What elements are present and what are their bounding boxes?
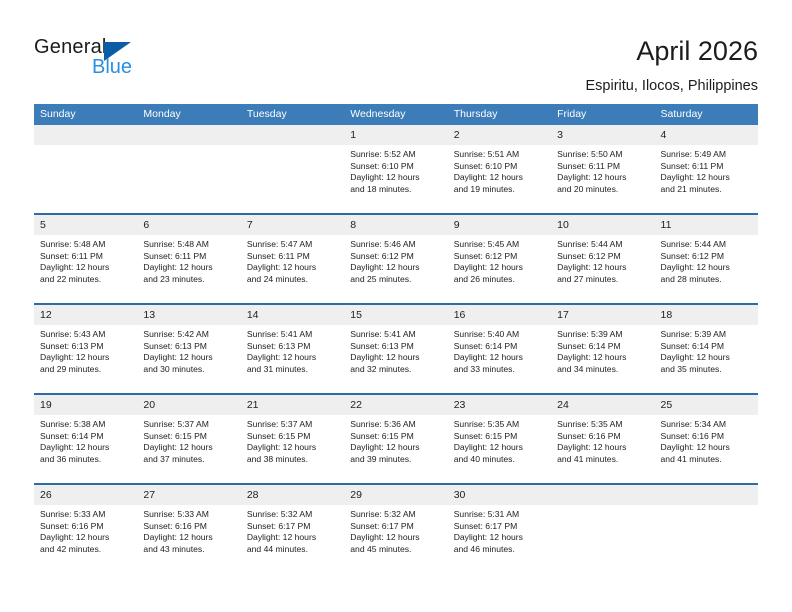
- sunset-text: Sunset: 6:16 PM: [557, 431, 648, 443]
- day-details: Sunrise: 5:39 AM Sunset: 6:14 PM Dayligh…: [655, 325, 758, 375]
- daylight-text-line1: Daylight: 12 hours: [557, 442, 648, 454]
- calendar-grid: Sunday Monday Tuesday Wednesday Thursday…: [34, 104, 758, 575]
- day-cell[interactable]: 1 Sunrise: 5:52 AM Sunset: 6:10 PM Dayli…: [344, 125, 447, 213]
- daylight-text-line2: and 29 minutes.: [40, 364, 131, 376]
- day-details: Sunrise: 5:44 AM Sunset: 6:12 PM Dayligh…: [655, 235, 758, 285]
- week-row: 19 Sunrise: 5:38 AM Sunset: 6:14 PM Dayl…: [34, 395, 758, 485]
- sunrise-text: Sunrise: 5:37 AM: [143, 419, 234, 431]
- daylight-text-line1: Daylight: 12 hours: [247, 532, 338, 544]
- day-number: 2: [448, 125, 551, 145]
- day-number: 14: [241, 305, 344, 325]
- sunset-text: Sunset: 6:14 PM: [454, 341, 545, 353]
- sunset-text: Sunset: 6:16 PM: [661, 431, 752, 443]
- daylight-text-line1: Daylight: 12 hours: [40, 442, 131, 454]
- sunrise-text: Sunrise: 5:51 AM: [454, 149, 545, 161]
- day-cell[interactable]: 14 Sunrise: 5:41 AM Sunset: 6:13 PM Dayl…: [241, 305, 344, 393]
- day-details: Sunrise: 5:33 AM Sunset: 6:16 PM Dayligh…: [34, 505, 137, 555]
- sunrise-text: Sunrise: 5:39 AM: [557, 329, 648, 341]
- day-details: Sunrise: 5:48 AM Sunset: 6:11 PM Dayligh…: [34, 235, 137, 285]
- logo-text-blue: Blue: [92, 56, 132, 79]
- day-details: Sunrise: 5:45 AM Sunset: 6:12 PM Dayligh…: [448, 235, 551, 285]
- sunset-text: Sunset: 6:13 PM: [143, 341, 234, 353]
- sunrise-text: Sunrise: 5:34 AM: [661, 419, 752, 431]
- daylight-text-line1: Daylight: 12 hours: [350, 352, 441, 364]
- day-number: [137, 125, 240, 145]
- sunset-text: Sunset: 6:14 PM: [661, 341, 752, 353]
- day-details: Sunrise: 5:42 AM Sunset: 6:13 PM Dayligh…: [137, 325, 240, 375]
- sunset-text: Sunset: 6:11 PM: [557, 161, 648, 173]
- day-number: 22: [344, 395, 447, 415]
- day-cell[interactable]: 22 Sunrise: 5:36 AM Sunset: 6:15 PM Dayl…: [344, 395, 447, 483]
- sunrise-text: Sunrise: 5:40 AM: [454, 329, 545, 341]
- weekday-header-monday: Monday: [137, 104, 240, 125]
- sunset-text: Sunset: 6:10 PM: [454, 161, 545, 173]
- day-details: Sunrise: 5:38 AM Sunset: 6:14 PM Dayligh…: [34, 415, 137, 465]
- daylight-text-line1: Daylight: 12 hours: [143, 532, 234, 544]
- day-details: Sunrise: 5:32 AM Sunset: 6:17 PM Dayligh…: [344, 505, 447, 555]
- sunset-text: Sunset: 6:15 PM: [247, 431, 338, 443]
- week-row: 12 Sunrise: 5:43 AM Sunset: 6:13 PM Dayl…: [34, 305, 758, 395]
- day-number: 8: [344, 215, 447, 235]
- day-cell[interactable]: 29 Sunrise: 5:32 AM Sunset: 6:17 PM Dayl…: [344, 485, 447, 575]
- sunset-text: Sunset: 6:12 PM: [661, 251, 752, 263]
- day-number: 16: [448, 305, 551, 325]
- sunrise-text: Sunrise: 5:46 AM: [350, 239, 441, 251]
- daylight-text-line1: Daylight: 12 hours: [661, 352, 752, 364]
- weekday-header-wednesday: Wednesday: [344, 104, 447, 125]
- day-number: 18: [655, 305, 758, 325]
- daylight-text-line2: and 42 minutes.: [40, 544, 131, 556]
- daylight-text-line2: and 39 minutes.: [350, 454, 441, 466]
- day-number: 28: [241, 485, 344, 505]
- daylight-text-line1: Daylight: 12 hours: [350, 262, 441, 274]
- weekday-header-sunday: Sunday: [34, 104, 137, 125]
- day-cell[interactable]: 9 Sunrise: 5:45 AM Sunset: 6:12 PM Dayli…: [448, 215, 551, 303]
- sunset-text: Sunset: 6:11 PM: [247, 251, 338, 263]
- week-row: 1 Sunrise: 5:52 AM Sunset: 6:10 PM Dayli…: [34, 125, 758, 215]
- sunset-text: Sunset: 6:13 PM: [247, 341, 338, 353]
- day-cell[interactable]: 28 Sunrise: 5:32 AM Sunset: 6:17 PM Dayl…: [241, 485, 344, 575]
- sunset-text: Sunset: 6:16 PM: [143, 521, 234, 533]
- day-number: 17: [551, 305, 654, 325]
- daylight-text-line2: and 31 minutes.: [247, 364, 338, 376]
- daylight-text-line2: and 25 minutes.: [350, 274, 441, 286]
- day-details: Sunrise: 5:46 AM Sunset: 6:12 PM Dayligh…: [344, 235, 447, 285]
- day-cell[interactable]: 18 Sunrise: 5:39 AM Sunset: 6:14 PM Dayl…: [655, 305, 758, 393]
- day-details: Sunrise: 5:44 AM Sunset: 6:12 PM Dayligh…: [551, 235, 654, 285]
- day-details: Sunrise: 5:50 AM Sunset: 6:11 PM Dayligh…: [551, 145, 654, 195]
- day-details: Sunrise: 5:35 AM Sunset: 6:15 PM Dayligh…: [448, 415, 551, 465]
- sunset-text: Sunset: 6:17 PM: [350, 521, 441, 533]
- general-blue-logo[interactable]: General Blue: [34, 36, 234, 88]
- day-details: Sunrise: 5:40 AM Sunset: 6:14 PM Dayligh…: [448, 325, 551, 375]
- daylight-text-line2: and 19 minutes.: [454, 184, 545, 196]
- day-cell[interactable]: 7 Sunrise: 5:47 AM Sunset: 6:11 PM Dayli…: [241, 215, 344, 303]
- daylight-text-line2: and 36 minutes.: [40, 454, 131, 466]
- sunset-text: Sunset: 6:15 PM: [454, 431, 545, 443]
- day-number: 7: [241, 215, 344, 235]
- sunset-text: Sunset: 6:12 PM: [557, 251, 648, 263]
- sunrise-text: Sunrise: 5:38 AM: [40, 419, 131, 431]
- sunset-text: Sunset: 6:11 PM: [661, 161, 752, 173]
- sunrise-text: Sunrise: 5:37 AM: [247, 419, 338, 431]
- day-details: Sunrise: 5:41 AM Sunset: 6:13 PM Dayligh…: [344, 325, 447, 375]
- day-number: 13: [137, 305, 240, 325]
- day-cell[interactable]: 8 Sunrise: 5:46 AM Sunset: 6:12 PM Dayli…: [344, 215, 447, 303]
- daylight-text-line2: and 40 minutes.: [454, 454, 545, 466]
- day-number: 5: [34, 215, 137, 235]
- day-number: 26: [34, 485, 137, 505]
- daylight-text-line2: and 27 minutes.: [557, 274, 648, 286]
- day-cell[interactable]: 21 Sunrise: 5:37 AM Sunset: 6:15 PM Dayl…: [241, 395, 344, 483]
- day-cell[interactable]: 26 Sunrise: 5:33 AM Sunset: 6:16 PM Dayl…: [34, 485, 137, 575]
- day-cell[interactable]: [137, 125, 240, 213]
- sunset-text: Sunset: 6:16 PM: [40, 521, 131, 533]
- page-subtitle-location: Espiritu, Ilocos, Philippines: [586, 78, 758, 94]
- day-number: 1: [344, 125, 447, 145]
- sunset-text: Sunset: 6:17 PM: [454, 521, 545, 533]
- day-details: Sunrise: 5:37 AM Sunset: 6:15 PM Dayligh…: [137, 415, 240, 465]
- sunset-text: Sunset: 6:13 PM: [350, 341, 441, 353]
- daylight-text-line1: Daylight: 12 hours: [661, 442, 752, 454]
- daylight-text-line2: and 32 minutes.: [350, 364, 441, 376]
- day-number: 9: [448, 215, 551, 235]
- daylight-text-line1: Daylight: 12 hours: [454, 442, 545, 454]
- sunset-text: Sunset: 6:12 PM: [454, 251, 545, 263]
- daylight-text-line1: Daylight: 12 hours: [350, 532, 441, 544]
- day-number: [241, 125, 344, 145]
- day-cell[interactable]: 20 Sunrise: 5:37 AM Sunset: 6:15 PM Dayl…: [137, 395, 240, 483]
- day-cell[interactable]: [551, 485, 654, 575]
- day-number: [655, 485, 758, 505]
- daylight-text-line1: Daylight: 12 hours: [350, 172, 441, 184]
- sunrise-text: Sunrise: 5:44 AM: [557, 239, 648, 251]
- day-details: Sunrise: 5:37 AM Sunset: 6:15 PM Dayligh…: [241, 415, 344, 465]
- day-details: Sunrise: 5:31 AM Sunset: 6:17 PM Dayligh…: [448, 505, 551, 555]
- daylight-text-line2: and 35 minutes.: [661, 364, 752, 376]
- sunset-text: Sunset: 6:12 PM: [350, 251, 441, 263]
- day-cell[interactable]: [655, 485, 758, 575]
- daylight-text-line1: Daylight: 12 hours: [247, 262, 338, 274]
- sunset-text: Sunset: 6:13 PM: [40, 341, 131, 353]
- daylight-text-line2: and 34 minutes.: [557, 364, 648, 376]
- day-cell[interactable]: 10 Sunrise: 5:44 AM Sunset: 6:12 PM Dayl…: [551, 215, 654, 303]
- sunrise-text: Sunrise: 5:44 AM: [661, 239, 752, 251]
- day-number: 27: [137, 485, 240, 505]
- day-details: Sunrise: 5:32 AM Sunset: 6:17 PM Dayligh…: [241, 505, 344, 555]
- sunrise-text: Sunrise: 5:41 AM: [247, 329, 338, 341]
- sunrise-text: Sunrise: 5:36 AM: [350, 419, 441, 431]
- week-row: 26 Sunrise: 5:33 AM Sunset: 6:16 PM Dayl…: [34, 485, 758, 575]
- day-number: 29: [344, 485, 447, 505]
- daylight-text-line2: and 28 minutes.: [661, 274, 752, 286]
- day-details: Sunrise: 5:51 AM Sunset: 6:10 PM Dayligh…: [448, 145, 551, 195]
- day-details: Sunrise: 5:39 AM Sunset: 6:14 PM Dayligh…: [551, 325, 654, 375]
- sunrise-text: Sunrise: 5:42 AM: [143, 329, 234, 341]
- sunrise-text: Sunrise: 5:33 AM: [40, 509, 131, 521]
- sunrise-text: Sunrise: 5:50 AM: [557, 149, 648, 161]
- day-details: Sunrise: 5:43 AM Sunset: 6:13 PM Dayligh…: [34, 325, 137, 375]
- day-number: 11: [655, 215, 758, 235]
- day-cell[interactable]: 4 Sunrise: 5:49 AM Sunset: 6:11 PM Dayli…: [655, 125, 758, 213]
- week-row: 5 Sunrise: 5:48 AM Sunset: 6:11 PM Dayli…: [34, 215, 758, 305]
- weekday-header-saturday: Saturday: [655, 104, 758, 125]
- day-cell[interactable]: 2 Sunrise: 5:51 AM Sunset: 6:10 PM Dayli…: [448, 125, 551, 213]
- day-details: Sunrise: 5:34 AM Sunset: 6:16 PM Dayligh…: [655, 415, 758, 465]
- daylight-text-line1: Daylight: 12 hours: [40, 262, 131, 274]
- daylight-text-line2: and 45 minutes.: [350, 544, 441, 556]
- day-number: 12: [34, 305, 137, 325]
- daylight-text-line2: and 24 minutes.: [247, 274, 338, 286]
- daylight-text-line1: Daylight: 12 hours: [40, 352, 131, 364]
- sunset-text: Sunset: 6:17 PM: [247, 521, 338, 533]
- day-cell[interactable]: 16 Sunrise: 5:40 AM Sunset: 6:14 PM Dayl…: [448, 305, 551, 393]
- day-cell[interactable]: 25 Sunrise: 5:34 AM Sunset: 6:16 PM Dayl…: [655, 395, 758, 483]
- sunrise-text: Sunrise: 5:33 AM: [143, 509, 234, 521]
- daylight-text-line2: and 20 minutes.: [557, 184, 648, 196]
- day-cell[interactable]: 17 Sunrise: 5:39 AM Sunset: 6:14 PM Dayl…: [551, 305, 654, 393]
- sunrise-text: Sunrise: 5:52 AM: [350, 149, 441, 161]
- page-title: April 2026: [636, 36, 758, 67]
- daylight-text-line1: Daylight: 12 hours: [350, 442, 441, 454]
- page-header: General Blue April 2026 Espiritu, Ilocos…: [0, 0, 792, 104]
- day-details: Sunrise: 5:48 AM Sunset: 6:11 PM Dayligh…: [137, 235, 240, 285]
- daylight-text-line2: and 18 minutes.: [350, 184, 441, 196]
- daylight-text-line1: Daylight: 12 hours: [454, 262, 545, 274]
- sunrise-text: Sunrise: 5:31 AM: [454, 509, 545, 521]
- day-number: 20: [137, 395, 240, 415]
- daylight-text-line1: Daylight: 12 hours: [247, 442, 338, 454]
- day-number: 23: [448, 395, 551, 415]
- daylight-text-line2: and 26 minutes.: [454, 274, 545, 286]
- daylight-text-line2: and 22 minutes.: [40, 274, 131, 286]
- day-details: Sunrise: 5:52 AM Sunset: 6:10 PM Dayligh…: [344, 145, 447, 195]
- day-cell[interactable]: 19 Sunrise: 5:38 AM Sunset: 6:14 PM Dayl…: [34, 395, 137, 483]
- sunrise-text: Sunrise: 5:47 AM: [247, 239, 338, 251]
- sunrise-text: Sunrise: 5:45 AM: [454, 239, 545, 251]
- day-cell[interactable]: 3 Sunrise: 5:50 AM Sunset: 6:11 PM Dayli…: [551, 125, 654, 213]
- sunset-text: Sunset: 6:15 PM: [143, 431, 234, 443]
- weekday-header-row: Sunday Monday Tuesday Wednesday Thursday…: [34, 104, 758, 125]
- day-number: [34, 125, 137, 145]
- daylight-text-line1: Daylight: 12 hours: [454, 172, 545, 184]
- day-cell[interactable]: 13 Sunrise: 5:42 AM Sunset: 6:13 PM Dayl…: [137, 305, 240, 393]
- day-number: 19: [34, 395, 137, 415]
- day-number: 21: [241, 395, 344, 415]
- sunrise-text: Sunrise: 5:32 AM: [247, 509, 338, 521]
- sunrise-text: Sunrise: 5:41 AM: [350, 329, 441, 341]
- day-cell[interactable]: 23 Sunrise: 5:35 AM Sunset: 6:15 PM Dayl…: [448, 395, 551, 483]
- daylight-text-line1: Daylight: 12 hours: [143, 352, 234, 364]
- daylight-text-line1: Daylight: 12 hours: [557, 352, 648, 364]
- sunrise-text: Sunrise: 5:35 AM: [557, 419, 648, 431]
- daylight-text-line1: Daylight: 12 hours: [40, 532, 131, 544]
- daylight-text-line1: Daylight: 12 hours: [247, 352, 338, 364]
- sunset-text: Sunset: 6:15 PM: [350, 431, 441, 443]
- daylight-text-line2: and 30 minutes.: [143, 364, 234, 376]
- day-details: Sunrise: 5:33 AM Sunset: 6:16 PM Dayligh…: [137, 505, 240, 555]
- day-number: 6: [137, 215, 240, 235]
- daylight-text-line2: and 38 minutes.: [247, 454, 338, 466]
- day-cell[interactable]: 11 Sunrise: 5:44 AM Sunset: 6:12 PM Dayl…: [655, 215, 758, 303]
- daylight-text-line1: Daylight: 12 hours: [143, 262, 234, 274]
- daylight-text-line1: Daylight: 12 hours: [143, 442, 234, 454]
- daylight-text-line2: and 21 minutes.: [661, 184, 752, 196]
- sunset-text: Sunset: 6:11 PM: [143, 251, 234, 263]
- weekday-header-thursday: Thursday: [448, 104, 551, 125]
- daylight-text-line2: and 33 minutes.: [454, 364, 545, 376]
- daylight-text-line1: Daylight: 12 hours: [557, 172, 648, 184]
- day-cell[interactable]: [241, 125, 344, 213]
- sunrise-text: Sunrise: 5:48 AM: [143, 239, 234, 251]
- weekday-header-friday: Friday: [551, 104, 654, 125]
- sunset-text: Sunset: 6:10 PM: [350, 161, 441, 173]
- day-details: Sunrise: 5:49 AM Sunset: 6:11 PM Dayligh…: [655, 145, 758, 195]
- day-number: [551, 485, 654, 505]
- weekday-header-tuesday: Tuesday: [241, 104, 344, 125]
- daylight-text-line2: and 41 minutes.: [557, 454, 648, 466]
- day-details: Sunrise: 5:41 AM Sunset: 6:13 PM Dayligh…: [241, 325, 344, 375]
- sunrise-text: Sunrise: 5:43 AM: [40, 329, 131, 341]
- daylight-text-line2: and 46 minutes.: [454, 544, 545, 556]
- daylight-text-line1: Daylight: 12 hours: [661, 262, 752, 274]
- day-cell[interactable]: 6 Sunrise: 5:48 AM Sunset: 6:11 PM Dayli…: [137, 215, 240, 303]
- daylight-text-line1: Daylight: 12 hours: [454, 532, 545, 544]
- sunrise-text: Sunrise: 5:32 AM: [350, 509, 441, 521]
- day-cell[interactable]: 5 Sunrise: 5:48 AM Sunset: 6:11 PM Dayli…: [34, 215, 137, 303]
- daylight-text-line2: and 37 minutes.: [143, 454, 234, 466]
- daylight-text-line1: Daylight: 12 hours: [454, 352, 545, 364]
- day-number: 25: [655, 395, 758, 415]
- daylight-text-line1: Daylight: 12 hours: [661, 172, 752, 184]
- day-cell[interactable]: [34, 125, 137, 213]
- calendar-page: General Blue April 2026 Espiritu, Ilocos…: [0, 0, 792, 612]
- sunrise-text: Sunrise: 5:39 AM: [661, 329, 752, 341]
- sunset-text: Sunset: 6:14 PM: [40, 431, 131, 443]
- daylight-text-line1: Daylight: 12 hours: [557, 262, 648, 274]
- day-number: 10: [551, 215, 654, 235]
- daylight-text-line2: and 41 minutes.: [661, 454, 752, 466]
- sunrise-text: Sunrise: 5:49 AM: [661, 149, 752, 161]
- sunset-text: Sunset: 6:14 PM: [557, 341, 648, 353]
- day-cell[interactable]: 24 Sunrise: 5:35 AM Sunset: 6:16 PM Dayl…: [551, 395, 654, 483]
- daylight-text-line2: and 23 minutes.: [143, 274, 234, 286]
- sunset-text: Sunset: 6:11 PM: [40, 251, 131, 263]
- day-number: 24: [551, 395, 654, 415]
- day-number: 4: [655, 125, 758, 145]
- day-number: 3: [551, 125, 654, 145]
- day-details: Sunrise: 5:47 AM Sunset: 6:11 PM Dayligh…: [241, 235, 344, 285]
- day-cell[interactable]: 15 Sunrise: 5:41 AM Sunset: 6:13 PM Dayl…: [344, 305, 447, 393]
- daylight-text-line2: and 44 minutes.: [247, 544, 338, 556]
- day-number: 15: [344, 305, 447, 325]
- day-number: 30: [448, 485, 551, 505]
- daylight-text-line2: and 43 minutes.: [143, 544, 234, 556]
- sunrise-text: Sunrise: 5:35 AM: [454, 419, 545, 431]
- sunrise-text: Sunrise: 5:48 AM: [40, 239, 131, 251]
- day-details: Sunrise: 5:36 AM Sunset: 6:15 PM Dayligh…: [344, 415, 447, 465]
- day-cell[interactable]: 27 Sunrise: 5:33 AM Sunset: 6:16 PM Dayl…: [137, 485, 240, 575]
- day-cell[interactable]: 30 Sunrise: 5:31 AM Sunset: 6:17 PM Dayl…: [448, 485, 551, 575]
- day-cell[interactable]: 12 Sunrise: 5:43 AM Sunset: 6:13 PM Dayl…: [34, 305, 137, 393]
- day-details: Sunrise: 5:35 AM Sunset: 6:16 PM Dayligh…: [551, 415, 654, 465]
